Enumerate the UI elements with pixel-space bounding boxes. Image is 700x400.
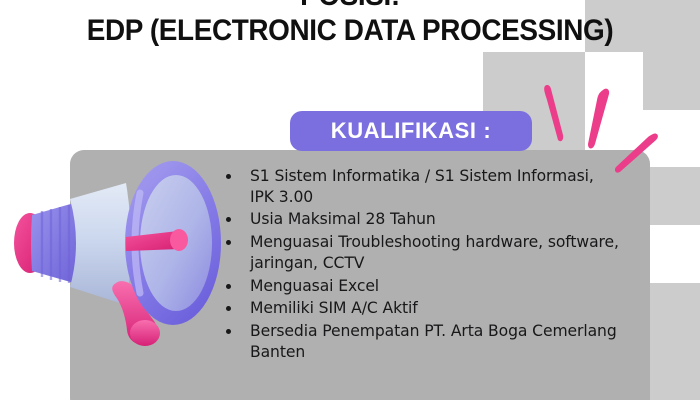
title-line-position: POSISI: (25, 0, 676, 13)
qualifications-list: S1 Sistem Informatika / S1 Sistem Inform… (222, 166, 622, 365)
checker-square (643, 52, 700, 110)
list-item: Menguasai Troubleshooting hardware, soft… (222, 232, 622, 273)
list-item: S1 Sistem Informatika / S1 Sistem Inform… (222, 166, 622, 207)
checker-square (483, 52, 585, 110)
title-line-role: EDP (ELECTRONIC DATA PROCESSING) (25, 13, 676, 48)
checker-square (643, 283, 700, 341)
list-item: Usia Maksimal 28 Tahun (222, 209, 622, 230)
list-item: Memiliki SIM A/C Aktif (222, 298, 622, 319)
list-item: Bersedia Penempatan PT. Arta Boga Cemerl… (222, 321, 622, 362)
status-badge: KUALIFIKASI : (290, 111, 532, 151)
page-title: POSISI: EDP (ELECTRONIC DATA PROCESSING) (0, 0, 700, 49)
megaphone-icon (8, 155, 238, 365)
list-item: Menguasai Excel (222, 276, 622, 297)
job-vacancy-poster: POSISI: EDP (ELECTRONIC DATA PROCESSING)… (0, 0, 700, 400)
badge-label: KUALIFIKASI : (331, 118, 492, 144)
